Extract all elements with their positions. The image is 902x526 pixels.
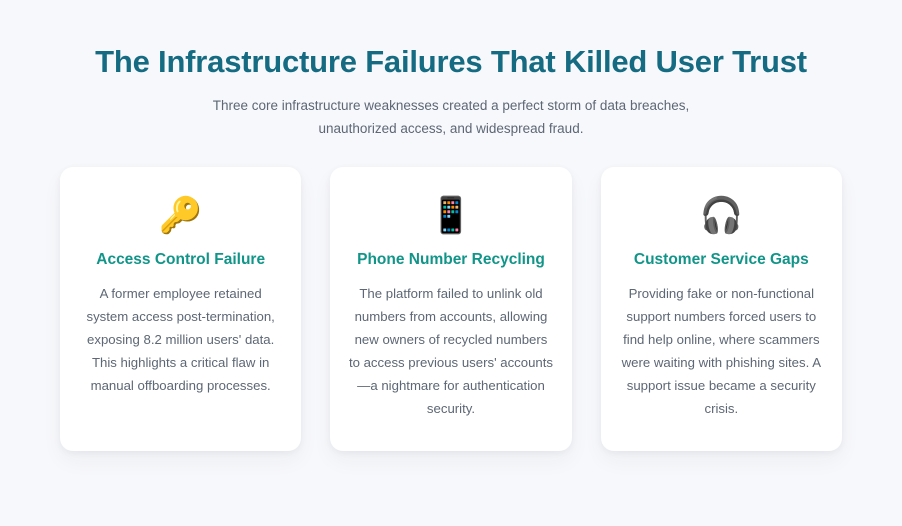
card-title: Phone Number Recycling	[357, 250, 545, 270]
card-title: Customer Service Gaps	[634, 250, 809, 270]
cards-grid: 🔑 Access Control Failure A former employ…	[0, 167, 902, 451]
section-header: The Infrastructure Failures That Killed …	[0, 0, 902, 141]
card-body: The platform failed to unlink old number…	[348, 283, 553, 421]
card-body: A former employee retained system access…	[78, 283, 283, 398]
card-phone-number-recycling[interactable]: 📱 Phone Number Recycling The platform fa…	[330, 167, 571, 451]
mobile-phone-icon: 📱	[429, 193, 473, 239]
card-body: Providing fake or non-functional support…	[619, 283, 824, 421]
page-title: The Infrastructure Failures That Killed …	[0, 43, 902, 80]
card-access-control-failure[interactable]: 🔑 Access Control Failure A former employ…	[60, 167, 301, 451]
card-title: Access Control Failure	[96, 250, 265, 270]
infrastructure-failures-section: The Infrastructure Failures That Killed …	[0, 0, 902, 526]
card-customer-service-gaps[interactable]: 🎧 Customer Service Gaps Providing fake o…	[601, 167, 842, 451]
headphones-icon: 🎧	[700, 193, 744, 239]
key-icon: 🔑	[159, 193, 203, 239]
page-subtitle: Three core infrastructure weaknesses cre…	[181, 94, 721, 140]
